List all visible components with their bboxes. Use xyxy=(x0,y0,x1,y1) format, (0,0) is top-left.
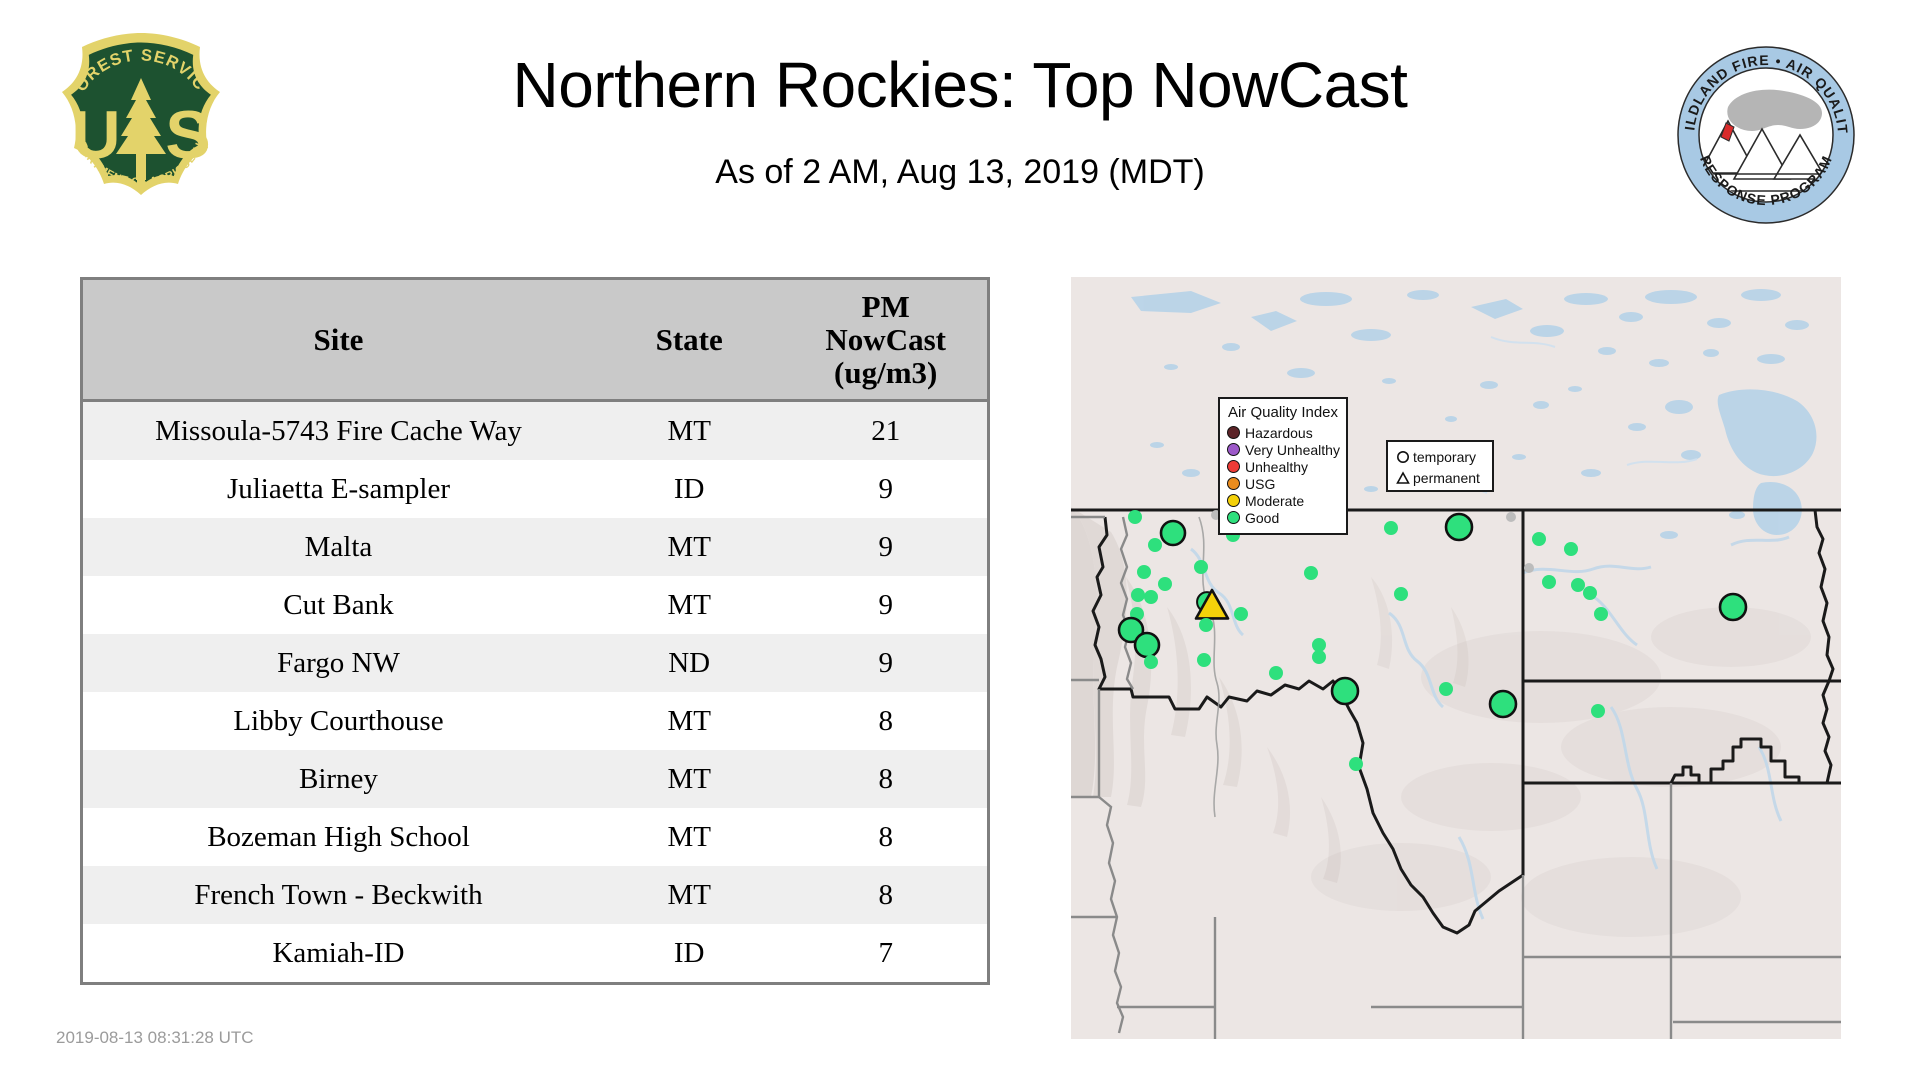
table-row: French Town - BeckwithMT8 xyxy=(82,866,989,924)
legend-permanent-label: permanent xyxy=(1413,471,1480,485)
permanent-triangle-icon xyxy=(1393,471,1413,485)
aqi-legend-row: Hazardous xyxy=(1227,424,1339,441)
table-cell-value: 9 xyxy=(784,518,988,576)
monitor-marker-temporary[interactable] xyxy=(1128,510,1142,524)
monitor-marker-temporary[interactable] xyxy=(1583,586,1597,600)
table-cell-site: Libby Courthouse xyxy=(82,692,594,750)
table-row: Juliaetta E-samplerID9 xyxy=(82,460,989,518)
table-cell-state: MT xyxy=(594,750,784,808)
table-row: MaltaMT9 xyxy=(82,518,989,576)
table-header: SiteStatePMNowCast(ug/m3) xyxy=(82,279,989,401)
table-cell-site: Kamiah-ID xyxy=(82,924,594,984)
aqi-legend-label: Hazardous xyxy=(1245,426,1313,440)
aqi-legend-label: Unhealthy xyxy=(1245,460,1308,474)
aqi-legend-items: HazardousVery UnhealthyUnhealthyUSGModer… xyxy=(1227,424,1339,526)
table-cell-site: Malta xyxy=(82,518,594,576)
table-cell-value: 9 xyxy=(784,576,988,634)
table-cell-state: MT xyxy=(594,518,784,576)
table-cell-state: ID xyxy=(594,924,784,984)
table-cell-state: MT xyxy=(594,576,784,634)
table-cell-site: French Town - Beckwith xyxy=(82,866,594,924)
monitor-marker-temporary[interactable] xyxy=(1594,607,1608,621)
table-cell-state: MT xyxy=(594,401,784,461)
monitor-marker-temporary[interactable] xyxy=(1349,757,1363,771)
monitor-marker-temporary[interactable] xyxy=(1135,633,1159,657)
aqi-legend-row: Unhealthy xyxy=(1227,458,1339,475)
legend-permanent: permanent xyxy=(1393,467,1487,488)
table-cell-value: 8 xyxy=(784,750,988,808)
monitor-marker-temporary[interactable] xyxy=(1148,538,1162,552)
aqi-swatch-icon xyxy=(1227,477,1240,490)
monitor-marker-temporary[interactable] xyxy=(1542,575,1556,589)
monitor-marker-temporary[interactable] xyxy=(1439,682,1453,696)
table-header-line: NowCast xyxy=(788,323,983,356)
table-header-line: PM xyxy=(788,290,983,323)
table-cell-value: 9 xyxy=(784,634,988,692)
aqi-swatch-icon xyxy=(1227,443,1240,456)
legend-temporary: temporary xyxy=(1393,446,1487,467)
monitor-marker-temporary[interactable] xyxy=(1144,590,1158,604)
monitor-marker-temporary[interactable] xyxy=(1532,532,1546,546)
monitor-marker-temporary[interactable] xyxy=(1564,542,1578,556)
aqi-legend-label: Moderate xyxy=(1245,494,1304,508)
monitor-marker-temporary[interactable] xyxy=(1197,653,1211,667)
table-cell-site: Juliaetta E-sampler xyxy=(82,460,594,518)
table-cell-value: 9 xyxy=(784,460,988,518)
table-cell-value: 7 xyxy=(784,924,988,984)
table-row: Libby CourthouseMT8 xyxy=(82,692,989,750)
table-cell-site: Missoula-5743 Fire Cache Way xyxy=(82,401,594,461)
monitor-marker-temporary[interactable] xyxy=(1571,578,1585,592)
monitor-marker-temporary[interactable] xyxy=(1384,521,1398,535)
aqi-legend-label: USG xyxy=(1245,477,1275,491)
table-header-state: State xyxy=(594,279,784,401)
temporary-circle-icon xyxy=(1393,450,1413,464)
page-subtitle: As of 2 AM, Aug 13, 2019 (MDT) xyxy=(270,153,1650,192)
table-cell-state: MT xyxy=(594,808,784,866)
table-cell-state: MT xyxy=(594,692,784,750)
aqi-legend-row: USG xyxy=(1227,475,1339,492)
monitor-marker-temporary[interactable] xyxy=(1394,587,1408,601)
monitor-marker-temporary[interactable] xyxy=(1131,588,1145,602)
monitor-marker-temporary[interactable] xyxy=(1304,566,1318,580)
monitor-marker-temporary[interactable] xyxy=(1194,560,1208,574)
monitor-marker-temporary[interactable] xyxy=(1199,618,1213,632)
footer-timestamp: 2019-08-13 08:31:28 UTC xyxy=(56,1028,254,1048)
table-header-value: PMNowCast(ug/m3) xyxy=(784,279,988,401)
monitor-marker-temporary[interactable] xyxy=(1720,594,1746,620)
monitor-marker-temporary[interactable] xyxy=(1591,704,1605,718)
table-cell-value: 8 xyxy=(784,866,988,924)
air-quality-map[interactable] xyxy=(1071,277,1841,1039)
aqi-legend-row: Good xyxy=(1227,509,1339,526)
monitor-marker-temporary[interactable] xyxy=(1312,638,1326,652)
aqi-legend: Air Quality Index HazardousVery Unhealth… xyxy=(1218,397,1348,535)
aqi-legend-label: Very Unhealthy xyxy=(1245,443,1340,457)
wfaqrp-logo: WILDLAND FIRE • AIR QUALITY RESPONSE PRO… xyxy=(1676,45,1856,225)
monitor-marker-temporary[interactable] xyxy=(1506,512,1516,522)
table-cell-site: Birney xyxy=(82,750,594,808)
table-header-line: (ug/m3) xyxy=(788,356,983,389)
monitor-marker-temporary[interactable] xyxy=(1490,691,1516,717)
usfs-shield-logo: FOREST SERVICE U S DEPARTMENT OF AGRICUL… xyxy=(52,30,230,216)
monitor-marker-temporary[interactable] xyxy=(1524,563,1534,573)
table-header-site: Site xyxy=(82,279,594,401)
aqi-swatch-icon xyxy=(1227,494,1240,507)
monitor-marker-temporary[interactable] xyxy=(1446,514,1472,540)
monitor-marker-temporary[interactable] xyxy=(1144,655,1158,669)
table-cell-site: Fargo NW xyxy=(82,634,594,692)
nowcast-table-container: SiteStatePMNowCast(ug/m3) Missoula-5743 … xyxy=(80,277,990,985)
table-header-row: SiteStatePMNowCast(ug/m3) xyxy=(82,279,989,401)
table-row: Bozeman High SchoolMT8 xyxy=(82,808,989,866)
aqi-swatch-icon xyxy=(1227,511,1240,524)
nowcast-table: SiteStatePMNowCast(ug/m3) Missoula-5743 … xyxy=(80,277,990,985)
table-row: Fargo NWND9 xyxy=(82,634,989,692)
monitor-marker-temporary[interactable] xyxy=(1269,666,1283,680)
table-row: Missoula-5743 Fire Cache WayMT21 xyxy=(82,401,989,461)
aqi-swatch-icon xyxy=(1227,460,1240,473)
table-cell-site: Cut Bank xyxy=(82,576,594,634)
monitor-marker-temporary[interactable] xyxy=(1161,521,1185,545)
table-cell-value: 21 xyxy=(784,401,988,461)
table-body: Missoula-5743 Fire Cache WayMT21Juliaett… xyxy=(82,401,989,984)
aqi-legend-title: Air Quality Index xyxy=(1227,404,1339,421)
title-block: Northern Rockies: Top NowCast As of 2 AM… xyxy=(270,52,1650,192)
legend-temporary-label: temporary xyxy=(1413,450,1476,464)
table-cell-state: ND xyxy=(594,634,784,692)
page-title: Northern Rockies: Top NowCast xyxy=(270,52,1650,119)
table-header-line: Site xyxy=(87,323,590,356)
table-header-line: State xyxy=(598,323,780,356)
table-cell-value: 8 xyxy=(784,692,988,750)
table-row: Kamiah-IDID7 xyxy=(82,924,989,984)
aqi-legend-row: Very Unhealthy xyxy=(1227,441,1339,458)
monitor-marker-temporary[interactable] xyxy=(1312,650,1326,664)
monitor-marker-temporary[interactable] xyxy=(1234,607,1248,621)
monitor-marker-temporary[interactable] xyxy=(1137,565,1151,579)
aqi-legend-row: Moderate xyxy=(1227,492,1339,509)
table-cell-state: ID xyxy=(594,460,784,518)
aqi-legend-label: Good xyxy=(1245,511,1279,525)
table-row: Cut BankMT9 xyxy=(82,576,989,634)
table-cell-value: 8 xyxy=(784,808,988,866)
table-cell-site: Bozeman High School xyxy=(82,808,594,866)
table-cell-state: MT xyxy=(594,866,784,924)
monitor-marker-temporary[interactable] xyxy=(1158,577,1172,591)
table-row: BirneyMT8 xyxy=(82,750,989,808)
aqi-swatch-icon xyxy=(1227,426,1240,439)
monitor-marker-temporary[interactable] xyxy=(1332,678,1358,704)
station-type-legend: temporary permanent xyxy=(1386,440,1494,492)
